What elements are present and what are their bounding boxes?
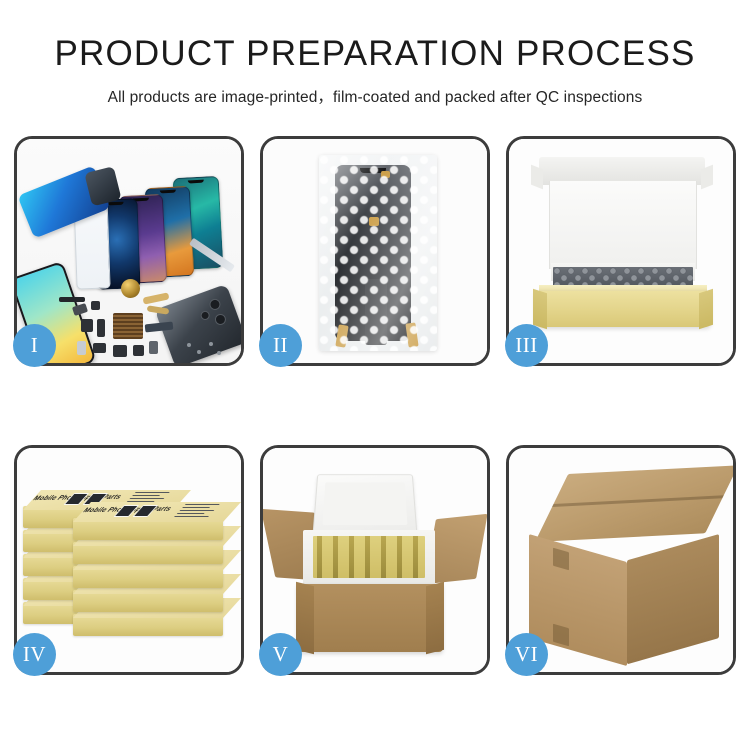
step-image-1 [17,139,241,363]
step-image-2 [263,139,487,363]
step-badge-1: I [13,324,56,367]
step-image-5 [263,448,487,672]
step-panel-5[interactable]: V [260,445,490,675]
step-panel-2[interactable]: II [260,136,490,366]
step-badge-6: VI [505,633,548,676]
step-badge-3: III [505,324,548,367]
screws-icon [185,341,225,357]
bubble-wrap-package-icon [319,155,437,351]
step-panel-4[interactable]: Mobile Phone Spare Parts Mobile Phone Sp… [14,445,244,675]
product-preparation-page: PRODUCT PREPARATION PROCESS All products… [0,0,750,750]
spare-parts-cluster-icon [73,289,203,363]
header: PRODUCT PREPARATION PROCESS All products… [0,0,750,107]
inner-boxes-icon [313,536,425,578]
step-badge-4: IV [13,633,56,676]
step-image-3 [509,139,733,363]
step-badge-2: II [259,324,302,367]
process-steps-grid: I II [14,136,736,675]
step-badge-5: V [259,633,302,676]
step-panel-6[interactable]: VI [506,445,736,675]
stacked-boxes-icon: Mobile Phone Spare Parts Mobile Phone Sp… [23,472,235,652]
foam-backwall-icon [549,181,697,269]
yellow-box-front-icon [535,291,711,327]
step-image-4: Mobile Phone Spare Parts Mobile Phone Sp… [17,448,241,672]
step-image-6 [509,448,733,672]
page-title: PRODUCT PREPARATION PROCESS [0,36,750,73]
page-subtitle: All products are image-printed，film-coat… [0,85,750,107]
step-panel-3[interactable]: III [506,136,736,366]
step-panel-1[interactable]: I [14,136,244,366]
carton-body-icon [297,584,443,652]
foam-lid-icon [313,474,418,534]
